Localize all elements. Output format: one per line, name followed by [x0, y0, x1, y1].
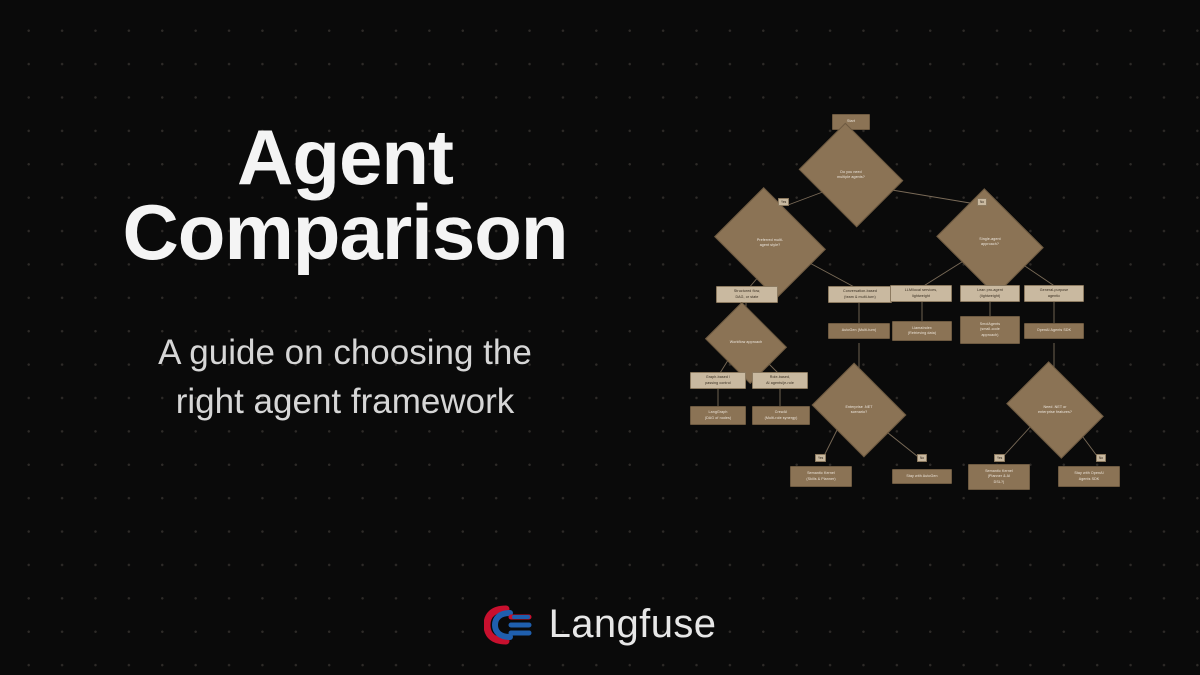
brand-lockup: Langfuse — [0, 602, 1200, 647]
flow-node-stay-with-openai-sdk[interactable]: Stay with OpenAI Agents SDK — [1058, 466, 1120, 487]
flow-node-lean-pro-agent[interactable]: Lean pro-agent (lightweight) — [960, 285, 1020, 302]
flow-node-langgraph[interactable]: LangGraph (DAG of nodes) — [690, 406, 746, 425]
page-subtitle: A guide on choosing the right agent fram… — [0, 328, 690, 427]
flow-node-conversation-based[interactable]: Conversation-based (team & multi-turn) — [828, 286, 892, 303]
page-title: Agent Comparison — [0, 120, 690, 270]
flow-node-preferred-multi-agent-style[interactable]: Preferred multi- agent style? — [726, 208, 814, 278]
flow-node-autogen[interactable]: AutoGen (Multi-turn) — [828, 323, 890, 339]
edge-label-yes-multi: Yes — [778, 198, 789, 206]
flow-node-general-purpose[interactable]: General-purpose agentic — [1024, 285, 1084, 302]
flow-node-semantic-kernel-skills[interactable]: Semantic Kernel (Skills & Planner) — [790, 466, 852, 487]
flow-node-graph-based[interactable]: Graph-based / passing control — [690, 372, 746, 389]
flow-node-smolagents[interactable]: SmolAgents (small-code approach) — [960, 316, 1020, 344]
hero-text-block: Agent Comparison A guide on choosing the… — [0, 120, 690, 427]
flow-node-workflow-approach[interactable]: Workflow approach — [714, 317, 778, 369]
flow-node-structured-flow[interactable]: Structured flow, DAG, or state — [716, 286, 778, 303]
flow-node-role-based[interactable]: Role-based, AI agents/je-role — [752, 372, 808, 389]
flow-node-need-net-or-enterprise[interactable]: Need .NET or enterprise features? — [1016, 380, 1094, 440]
flow-node-llm-services[interactable]: LLM/local services, lightweight — [890, 285, 952, 302]
flow-node-enterprise-net-scenario[interactable]: Enterprise .NET scenario? — [822, 380, 896, 440]
flow-node-stay-with-autogen[interactable]: Stay with AutoGen — [892, 469, 952, 484]
flow-node-crewai[interactable]: CrewAI (Multi-role synergy) — [752, 406, 810, 425]
brand-name: Langfuse — [549, 602, 717, 647]
langfuse-logo-icon — [484, 605, 532, 645]
flow-node-single-agent-approach[interactable]: Single-agent approach? — [948, 208, 1032, 276]
edge-label-yes-enterprise: Yes — [815, 454, 826, 462]
edge-label-no-enterprise: No — [917, 454, 927, 462]
edge-label-no-multi: No — [977, 198, 987, 206]
edge-label-no-net: No — [1096, 454, 1106, 462]
decision-flowchart: Start Do you need multiple agents? Yes N… — [660, 95, 1190, 515]
flow-node-llamaindex[interactable]: LlamaIndex (Retrieving data) — [892, 321, 952, 341]
slide-canvas: Agent Comparison A guide on choosing the… — [0, 0, 1200, 675]
flow-node-need-multiple-agents[interactable]: Do you need multiple agents? — [810, 142, 892, 208]
edge-label-yes-net: Yes — [994, 454, 1005, 462]
flow-node-semantic-kernel-planner[interactable]: Semantic Kernel (Planner & AI DSL?) — [968, 464, 1030, 490]
flow-node-openai-agents-sdk[interactable]: OpenAI Agents SDK — [1024, 323, 1084, 339]
